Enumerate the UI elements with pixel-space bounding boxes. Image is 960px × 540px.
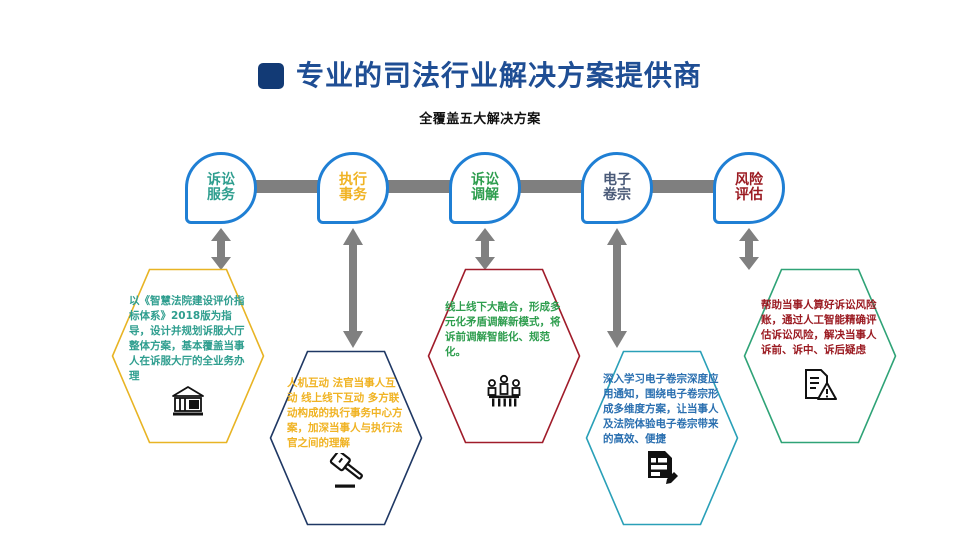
page-title-text: 专业的司法行业解决方案提供商: [296, 62, 702, 90]
node-label: 诉讼 服务: [207, 173, 235, 203]
page-subtitle: 全覆盖五大解决方案: [0, 108, 960, 127]
card-electronic-files[interactable]: 深入学习电子卷宗深度应用通知，围绕电子卷宗形成多维度方案，让当事人及法院体验电子…: [585, 350, 739, 526]
connector-bar-2: [380, 180, 454, 193]
slide-canvas: 专业的司法行业解决方案提供商 全覆盖五大解决方案 诉讼 服务 执行 事务 诉讼 …: [0, 0, 960, 540]
gavel-icon: [326, 453, 366, 493]
node-risk-assessment[interactable]: 风险 评估: [713, 152, 785, 224]
connector-bar-1: [248, 180, 322, 193]
node-label: 风险 评估: [735, 173, 763, 203]
connector-bar-4: [644, 180, 718, 193]
double-arrow-1: [207, 228, 235, 270]
card-text: 深入学习电子卷宗深度应用通知，围绕电子卷宗形成多维度方案，让当事人及法院体验电子…: [603, 372, 721, 447]
double-arrow-4: [603, 228, 631, 348]
node-label: 执行 事务: [339, 173, 367, 203]
card-litigation-mediation[interactable]: 线上线下大融合，形成多元化矛盾调解新模式，将诉前调解智能化、规范化。: [427, 268, 581, 444]
card-text: 帮助当事人算好诉讼风险账，通过人工智能精确评估诉讼风险，解决当事人诉前、诉中、诉…: [761, 298, 879, 358]
card-enforcement-affairs[interactable]: 人机互动 法官当事人互动 线上线下互动 多方联动构成的执行事务中心方案，加深当事…: [269, 350, 423, 526]
node-electronic-files[interactable]: 电子 卷宗: [581, 152, 653, 224]
card-text: 以《智慧法院建设评价指标体系》2018版为指导，设计并规划诉服大厅整体方案，基本…: [129, 294, 247, 383]
card-risk-assessment[interactable]: 帮助当事人算好诉讼风险账，通过人工智能精确评估诉讼风险，解决当事人诉前、诉中、诉…: [743, 268, 897, 444]
node-litigation-service[interactable]: 诉讼 服务: [185, 152, 257, 224]
page-title: 专业的司法行业解决方案提供商: [0, 62, 960, 90]
node-label: 电子 卷宗: [603, 173, 631, 203]
document-warning-icon: [803, 368, 837, 406]
connector-bar-3: [512, 180, 586, 193]
double-arrow-2: [339, 228, 367, 348]
courthouse-icon: [171, 385, 205, 421]
card-text: 线上线下大融合，形成多元化矛盾调解新模式，将诉前调解智能化、规范化。: [445, 300, 563, 360]
card-text: 人机互动 法官当事人互动 线上线下互动 多方联动构成的执行事务中心方案，加深当事…: [287, 376, 405, 451]
node-enforcement-affairs[interactable]: 执行 事务: [317, 152, 389, 224]
node-label: 诉讼 调解: [471, 173, 499, 203]
double-arrow-3: [471, 228, 499, 270]
card-litigation-service[interactable]: 以《智慧法院建设评价指标体系》2018版为指导，设计并规划诉服大厅整体方案，基本…: [111, 268, 265, 444]
square-bullet-icon: [258, 63, 284, 89]
document-edit-icon: [645, 449, 679, 491]
double-arrow-5: [735, 228, 763, 270]
mediation-people-icon: [486, 374, 522, 412]
node-litigation-mediation[interactable]: 诉讼 调解: [449, 152, 521, 224]
